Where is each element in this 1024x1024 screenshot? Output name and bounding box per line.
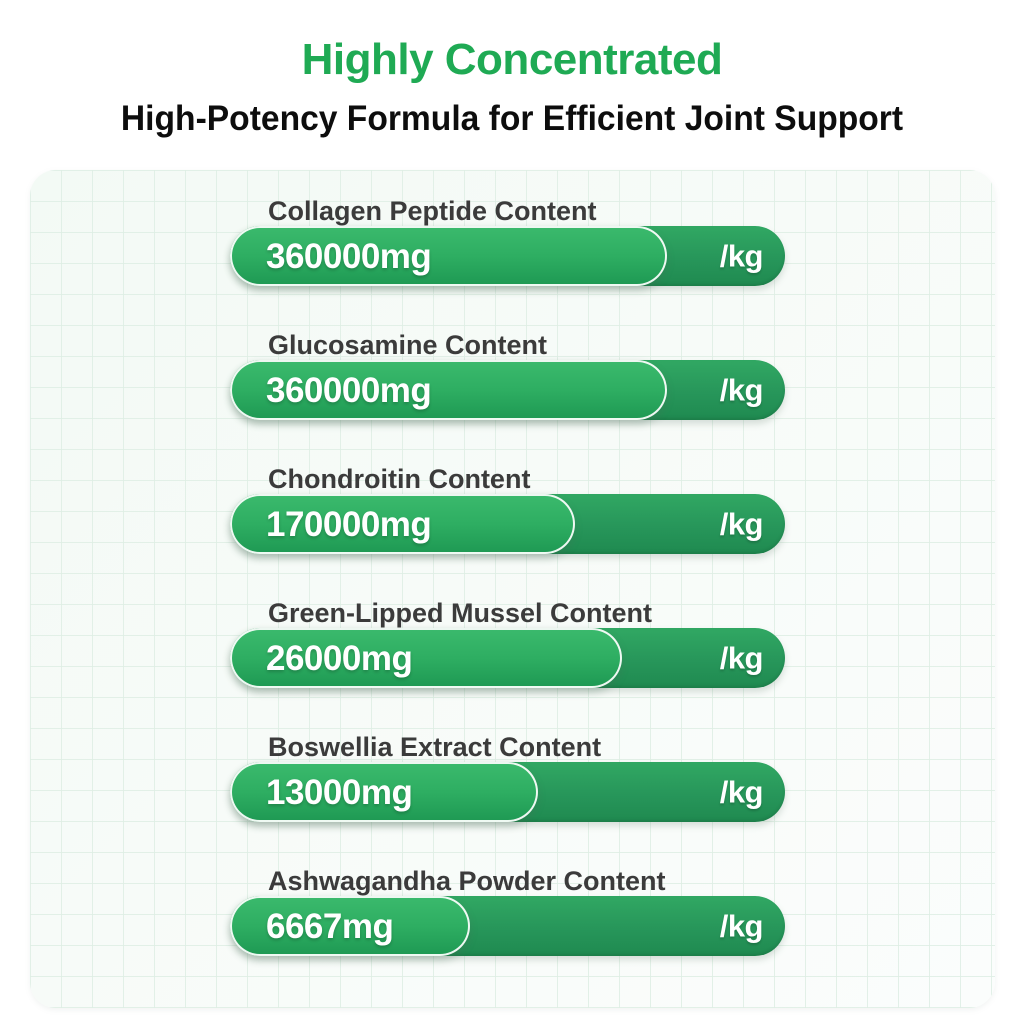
bar-unit-label: /kg bbox=[720, 777, 763, 808]
bar-fill: 170000mg bbox=[230, 494, 575, 554]
nutrient-bar: /kg13000mg bbox=[230, 762, 785, 822]
bar-unit-label: /kg bbox=[720, 509, 763, 540]
nutrient-label: Green-Lipped Mussel Content bbox=[268, 600, 652, 627]
nutrient-bar: /kg360000mg bbox=[230, 360, 785, 420]
page-subheadline: High-Potency Formula for Efficient Joint… bbox=[20, 100, 1003, 139]
bar-value-label: 13000mg bbox=[266, 775, 412, 810]
nutrient-content-panel: Collagen Peptide Content/kg360000mgGluco… bbox=[30, 170, 995, 1008]
page-headline: Highly Concentrated bbox=[0, 38, 1024, 82]
nutrient-label: Glucosamine Content bbox=[268, 332, 547, 359]
bar-fill: 26000mg bbox=[230, 628, 622, 688]
bar-value-label: 360000mg bbox=[266, 239, 431, 274]
nutrient-label: Boswellia Extract Content bbox=[268, 734, 601, 761]
bar-fill: 6667mg bbox=[230, 896, 470, 956]
bar-unit-label: /kg bbox=[720, 375, 763, 406]
nutrient-bar: /kg360000mg bbox=[230, 226, 785, 286]
nutrient-label: Collagen Peptide Content bbox=[268, 198, 597, 225]
bar-unit-label: /kg bbox=[720, 241, 763, 272]
bar-value-label: 360000mg bbox=[266, 373, 431, 408]
bar-value-label: 170000mg bbox=[266, 507, 431, 542]
bar-value-label: 26000mg bbox=[266, 641, 412, 676]
nutrient-bar: /kg26000mg bbox=[230, 628, 785, 688]
bar-value-label: 6667mg bbox=[266, 909, 393, 944]
bar-unit-label: /kg bbox=[720, 643, 763, 674]
bar-fill: 13000mg bbox=[230, 762, 538, 822]
nutrient-bar: /kg170000mg bbox=[230, 494, 785, 554]
nutrient-bar: /kg6667mg bbox=[230, 896, 785, 956]
bar-fill: 360000mg bbox=[230, 360, 667, 420]
bar-unit-label: /kg bbox=[720, 911, 763, 942]
bar-fill: 360000mg bbox=[230, 226, 667, 286]
nutrient-label: Ashwagandha Powder Content bbox=[268, 868, 666, 895]
nutrient-label: Chondroitin Content bbox=[268, 466, 530, 493]
